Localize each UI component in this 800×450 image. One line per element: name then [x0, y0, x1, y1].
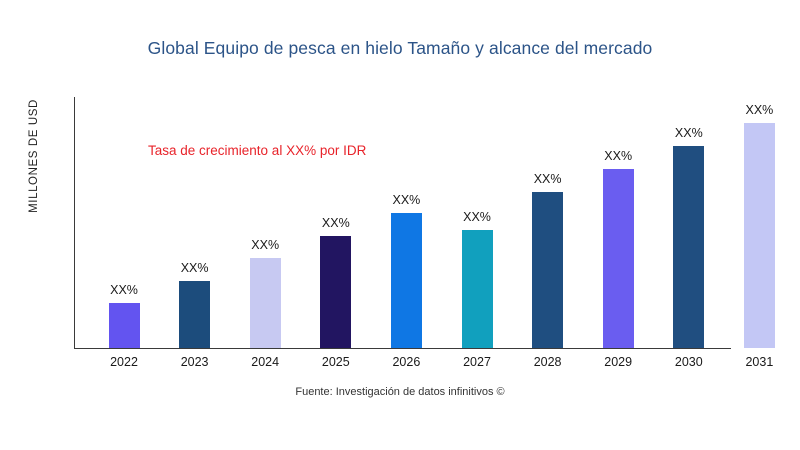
- x-axis-line: [74, 348, 731, 349]
- bar[interactable]: [744, 123, 775, 348]
- bar[interactable]: [603, 169, 634, 348]
- source-caption: Fuente: Investigación de datos infinitiv…: [0, 386, 800, 398]
- bar-group[interactable]: XX%: [603, 97, 634, 348]
- bar-value-label: XX%: [463, 210, 491, 224]
- x-tick-label-2022: 2022: [94, 355, 154, 369]
- bar-value-label: XX%: [251, 238, 279, 252]
- bar-group[interactable]: XX%: [250, 97, 281, 348]
- bar-group[interactable]: XX%: [532, 97, 563, 348]
- bar-group[interactable]: XX%: [744, 97, 775, 348]
- bar[interactable]: [250, 258, 281, 348]
- x-tick-label-2023: 2023: [165, 355, 225, 369]
- bar-group[interactable]: XX%: [673, 97, 704, 348]
- bar-value-label: XX%: [745, 103, 773, 117]
- bar-group[interactable]: XX%: [179, 97, 210, 348]
- bar-value-label: XX%: [675, 126, 703, 140]
- bar-value-label: XX%: [534, 172, 562, 186]
- x-tick-label-2028: 2028: [518, 355, 578, 369]
- bar-group[interactable]: XX%: [109, 97, 140, 348]
- x-tick-label-2027: 2027: [447, 355, 507, 369]
- bar[interactable]: [462, 230, 493, 348]
- bar-chart: Global Equipo de pesca en hielo Tamaño y…: [0, 0, 800, 450]
- bar-value-label: XX%: [181, 261, 209, 275]
- bar-group[interactable]: XX%: [391, 97, 422, 348]
- bar-value-label: XX%: [322, 216, 350, 230]
- bar[interactable]: [320, 236, 351, 348]
- bar[interactable]: [673, 146, 704, 348]
- bar[interactable]: [391, 213, 422, 348]
- bar-group[interactable]: XX%: [320, 97, 351, 348]
- bar[interactable]: [109, 303, 140, 348]
- bar-group[interactable]: XX%: [462, 97, 493, 348]
- x-tick-label-2025: 2025: [306, 355, 366, 369]
- y-axis-line: [74, 97, 75, 349]
- x-tick-label-2031: 2031: [729, 355, 789, 369]
- bar-value-label: XX%: [604, 149, 632, 163]
- x-tick-label-2029: 2029: [588, 355, 648, 369]
- plot-area: Tasa de crecimiento al XX% por IDR XX%XX…: [0, 0, 800, 450]
- x-tick-label-2030: 2030: [659, 355, 719, 369]
- bar-value-label: XX%: [392, 193, 420, 207]
- x-tick-label-2026: 2026: [376, 355, 436, 369]
- bar[interactable]: [532, 192, 563, 348]
- x-tick-label-2024: 2024: [235, 355, 295, 369]
- bar[interactable]: [179, 281, 210, 348]
- bar-value-label: XX%: [110, 283, 138, 297]
